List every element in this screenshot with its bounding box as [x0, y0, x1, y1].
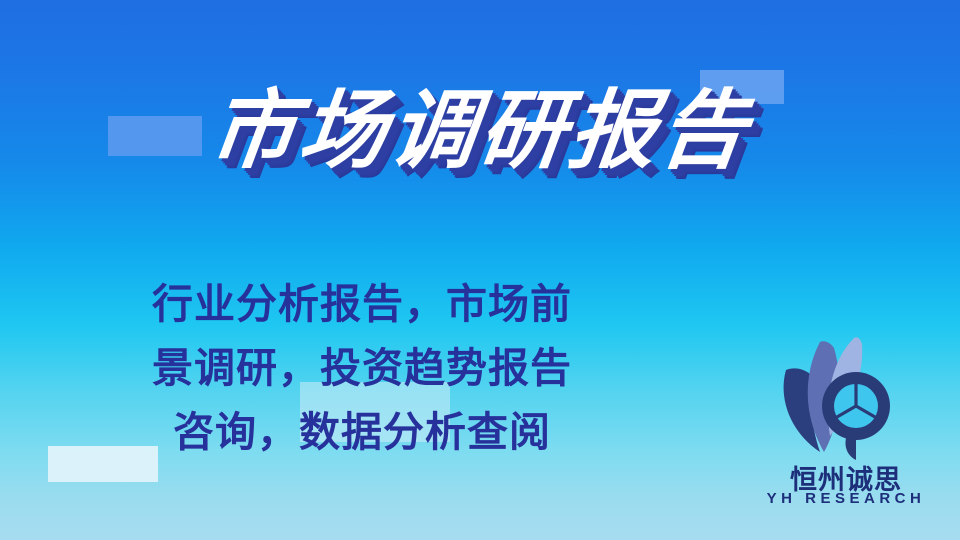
logo-company-subtitle: YH RESEARCH: [748, 490, 944, 507]
marketing-poster: 市场调研报告 行业分析报告，市场前 景调研，投资趋势报告 咨询，数据分析查阅: [0, 0, 960, 540]
company-logo: 恒州诚思 YH RESEARCH: [748, 332, 944, 512]
subtitle-line: 行业分析报告，市场前: [52, 272, 672, 336]
subtitle-line: 景调研，投资趋势报告: [52, 336, 672, 400]
title-block: 市场调研报告: [0, 86, 960, 176]
page-title: 市场调研报告: [204, 86, 755, 176]
subtitle-line: 咨询，数据分析查阅: [52, 400, 672, 464]
subtitle-block: 行业分析报告，市场前 景调研，投资趋势报告 咨询，数据分析查阅: [52, 272, 672, 464]
yh-research-logo-icon: [768, 332, 908, 460]
